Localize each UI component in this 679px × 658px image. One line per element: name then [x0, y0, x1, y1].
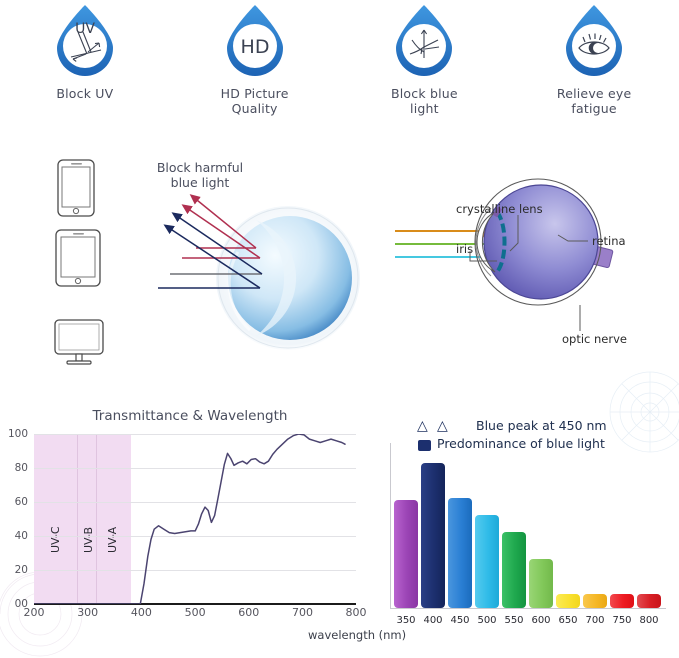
peak-marker-triangle-2: △: [437, 418, 448, 434]
bar-tick-350: 350: [396, 615, 415, 626]
bar-col-600[interactable]: [529, 559, 553, 609]
relieve-eye-fatigue-icon: [554, 0, 634, 80]
ytick-80: 80: [0, 462, 28, 474]
tablet-icon: [53, 228, 105, 294]
xtick-400: 400: [131, 606, 152, 619]
bar-tick-400: 400: [423, 615, 442, 626]
bar-col-500[interactable]: [475, 515, 499, 608]
feature-block-uv[interactable]: UV Block UV: [10, 0, 160, 101]
bar-tick-500: 500: [477, 615, 496, 626]
ytick-60: 60: [0, 496, 28, 508]
bar-tick-650: 650: [558, 615, 577, 626]
transmittance-chart-title: Transmittance & Wavelength: [0, 408, 380, 424]
bar-tick-600: 600: [531, 615, 550, 626]
xtick-300: 300: [77, 606, 98, 619]
feature-label-relieve-eye-fatigue: Relieve eye fatigue: [557, 80, 632, 116]
charts-row: Transmittance & Wavelength UV-C UV-B UV-…: [0, 380, 679, 654]
svg-text:UV: UV: [75, 21, 95, 37]
hd-quality-icon: HD: [215, 0, 295, 80]
blocked-rays-and-lens: [110, 180, 410, 370]
transmittance-chart: Transmittance & Wavelength UV-C UV-B UV-…: [0, 408, 380, 654]
bar-col-350[interactable]: [394, 500, 418, 608]
spectrum-bars: [394, 448, 661, 608]
bar-tick-550: 550: [504, 615, 523, 626]
feature-block-blue-light[interactable]: Block blue light: [349, 0, 499, 116]
phone-icon: [55, 158, 99, 224]
bar-350[interactable]: [394, 500, 418, 608]
bar-col-400[interactable]: [421, 463, 445, 609]
hd-label-line2: Quality: [221, 101, 289, 116]
ytick-100: 100: [0, 428, 28, 440]
bar-col-750[interactable]: [610, 594, 634, 609]
bar-note-blue-peak: Blue peak at 450 nm: [476, 418, 607, 433]
xtick-700: 700: [292, 606, 313, 619]
feature-relieve-eye-fatigue[interactable]: Relieve eye fatigue: [519, 0, 669, 116]
xtick-500: 500: [185, 606, 206, 619]
feature-label-block-uv: Block UV: [56, 86, 113, 101]
ytick-40: 40: [0, 530, 28, 542]
transmittance-curve: [34, 434, 356, 604]
bar-500[interactable]: [475, 515, 499, 608]
feature-row: UV Block UV HD HD Picture Quality: [0, 0, 679, 140]
xtick-600: 600: [238, 606, 259, 619]
transmittance-plot-area: UV-C UV-B UV-A: [34, 434, 356, 604]
uv-block-icon: UV: [45, 0, 125, 80]
bar-750[interactable]: [610, 594, 634, 609]
feature-label-hd-quality: HD Picture Quality: [221, 80, 289, 116]
blue-light-spectrum-chart: △ △ Blue peak at 450 nm Predominance of …: [380, 414, 679, 634]
relieve-label-line2: fatigue: [557, 101, 632, 116]
blue-label-line2: light: [391, 101, 458, 116]
eye-label-leaders: [440, 195, 660, 355]
relieve-label-line1: Relieve eye: [557, 86, 632, 101]
xtick-800: 800: [346, 606, 367, 619]
blue-label-line1: Block blue: [391, 86, 458, 101]
bar-600[interactable]: [529, 559, 553, 609]
blue-light-block-icon: [384, 0, 464, 80]
feature-label-block-blue-light: Block blue light: [391, 80, 458, 116]
ytick-20: 20: [0, 564, 28, 576]
hd-label-line1: HD Picture: [221, 86, 289, 101]
bar-800[interactable]: [637, 594, 661, 609]
monitor-icon: [52, 318, 108, 370]
xtick-200: 200: [24, 606, 45, 619]
bar-550[interactable]: [502, 532, 526, 608]
bar-col-450[interactable]: [448, 498, 472, 609]
svg-text:HD: HD: [240, 36, 269, 58]
bar-tick-450: 450: [450, 615, 469, 626]
bar-tick-750: 750: [612, 615, 631, 626]
bar-tick-700: 700: [585, 615, 604, 626]
caption-line1: Block harmful: [135, 160, 265, 175]
lens-protection-diagram: Block harmful blue light: [0, 140, 679, 380]
bar-chart-baseline: [390, 608, 666, 609]
bar-tick-800: 800: [639, 615, 658, 626]
bar-col-550[interactable]: [502, 532, 526, 608]
bar-450[interactable]: [448, 498, 472, 609]
peak-marker-triangle-1: △: [417, 418, 428, 434]
bar-col-650[interactable]: [556, 594, 580, 609]
bar-col-700[interactable]: [583, 594, 607, 609]
feature-hd-quality[interactable]: HD HD Picture Quality: [180, 0, 330, 116]
bar-700[interactable]: [583, 594, 607, 609]
bar-650[interactable]: [556, 594, 580, 609]
bar-col-800[interactable]: [637, 594, 661, 609]
bar-chart-yaxis: [390, 443, 391, 609]
bar-400[interactable]: [421, 463, 445, 609]
